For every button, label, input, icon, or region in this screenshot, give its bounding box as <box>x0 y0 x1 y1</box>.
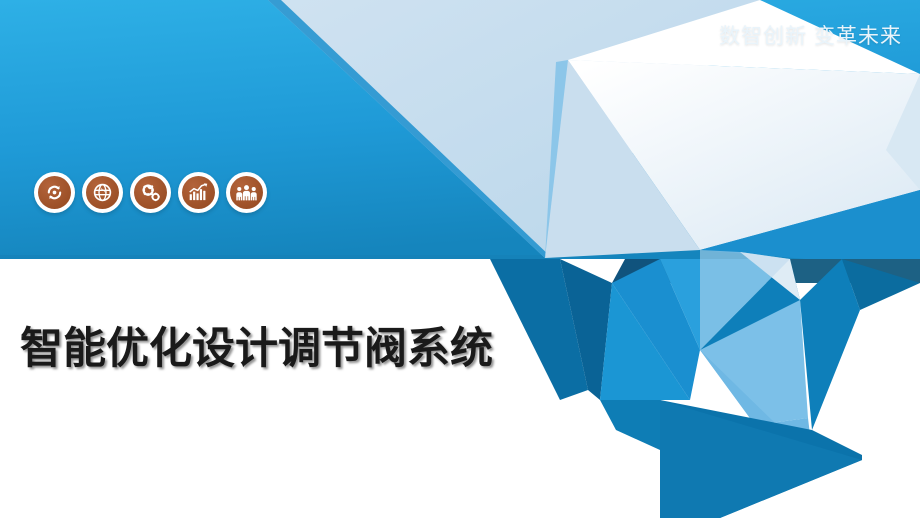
background-artwork <box>0 0 920 518</box>
globe-icon <box>86 176 119 209</box>
icon-row <box>34 172 267 213</box>
icon-badge-chart[interactable] <box>178 172 219 213</box>
tagline-text: 数智创新 变革未来 <box>719 26 902 47</box>
header-band-edge <box>0 255 560 259</box>
icon-badge-recycle[interactable] <box>34 172 75 213</box>
bar-chart-icon <box>182 176 215 209</box>
slide-canvas: 数智创新 变革未来 <box>0 0 920 518</box>
icon-badge-globe[interactable] <box>82 172 123 213</box>
icon-badge-people[interactable] <box>226 172 267 213</box>
recycle-arrows-icon <box>38 176 71 209</box>
page-title: 智能优化设计调节阀系统 <box>20 325 493 373</box>
people-group-icon <box>230 176 263 209</box>
icon-badge-gears[interactable] <box>130 172 171 213</box>
gears-icon <box>134 176 167 209</box>
